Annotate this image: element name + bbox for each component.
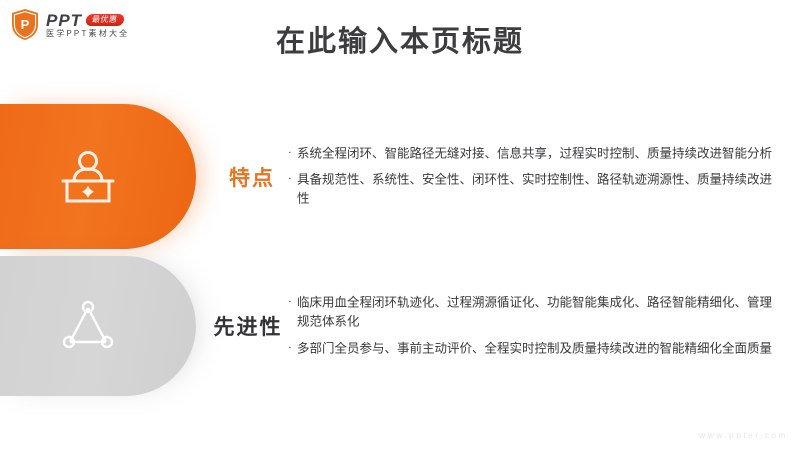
bullet-marker: · bbox=[288, 144, 297, 161]
band-features bbox=[0, 104, 196, 249]
page-title: 在此输入本页标题 bbox=[0, 18, 800, 60]
doctor-desk-icon bbox=[52, 141, 124, 213]
footer-watermark: www.ppter.com bbox=[699, 430, 788, 440]
list-item: · 临床用血全程闭环轨迹化、过程溯源循证化、功能智能集成化、路径智能精细化、管理… bbox=[288, 293, 780, 332]
bullet-marker: · bbox=[288, 170, 297, 187]
bullet-text: 具备规范性、系统性、安全性、闭环性、实时控制性、路径轨迹溯源性、质量持续改进性 bbox=[297, 170, 780, 209]
content-row-features: 特点 · 系统全程闭环、智能路径无缝对接、信息共享，过程实时控制、质量持续改进智… bbox=[0, 104, 800, 249]
list-item: · 系统全程闭环、智能路径无缝对接、信息共享，过程实时控制、质量持续改进智能分析 bbox=[288, 144, 780, 163]
bullet-list-features: · 系统全程闭环、智能路径无缝对接、信息共享，过程实时控制、质量持续改进智能分析… bbox=[288, 144, 780, 209]
bullet-text: 多部门全员参与、事前主动评价、全程实时控制及质量持续改进的智能精细化全面质量 bbox=[297, 339, 780, 358]
bullet-text: 临床用血全程闭环轨迹化、过程溯源循证化、功能智能集成化、路径智能精细化、管理规范… bbox=[297, 293, 780, 332]
row-label-advance: 先进性 bbox=[196, 311, 300, 341]
band-advance bbox=[0, 256, 196, 396]
bullet-marker: · bbox=[288, 293, 297, 310]
bullet-text: 系统全程闭环、智能路径无缝对接、信息共享，过程实时控制、质量持续改进智能分析 bbox=[297, 144, 780, 163]
content-row-advance: 先进性 · 临床用血全程闭环轨迹化、过程溯源循证化、功能智能集成化、路径智能精细… bbox=[0, 256, 800, 396]
list-item: · 多部门全员参与、事前主动评价、全程实时控制及质量持续改进的智能精细化全面质量 bbox=[288, 339, 780, 358]
triangle-network-icon bbox=[52, 290, 124, 362]
bullet-marker: · bbox=[288, 339, 297, 356]
list-item: · 具备规范性、系统性、安全性、闭环性、实时控制性、路径轨迹溯源性、质量持续改进… bbox=[288, 170, 780, 209]
bullet-list-advance: · 临床用血全程闭环轨迹化、过程溯源循证化、功能智能集成化、路径智能精细化、管理… bbox=[288, 293, 780, 358]
